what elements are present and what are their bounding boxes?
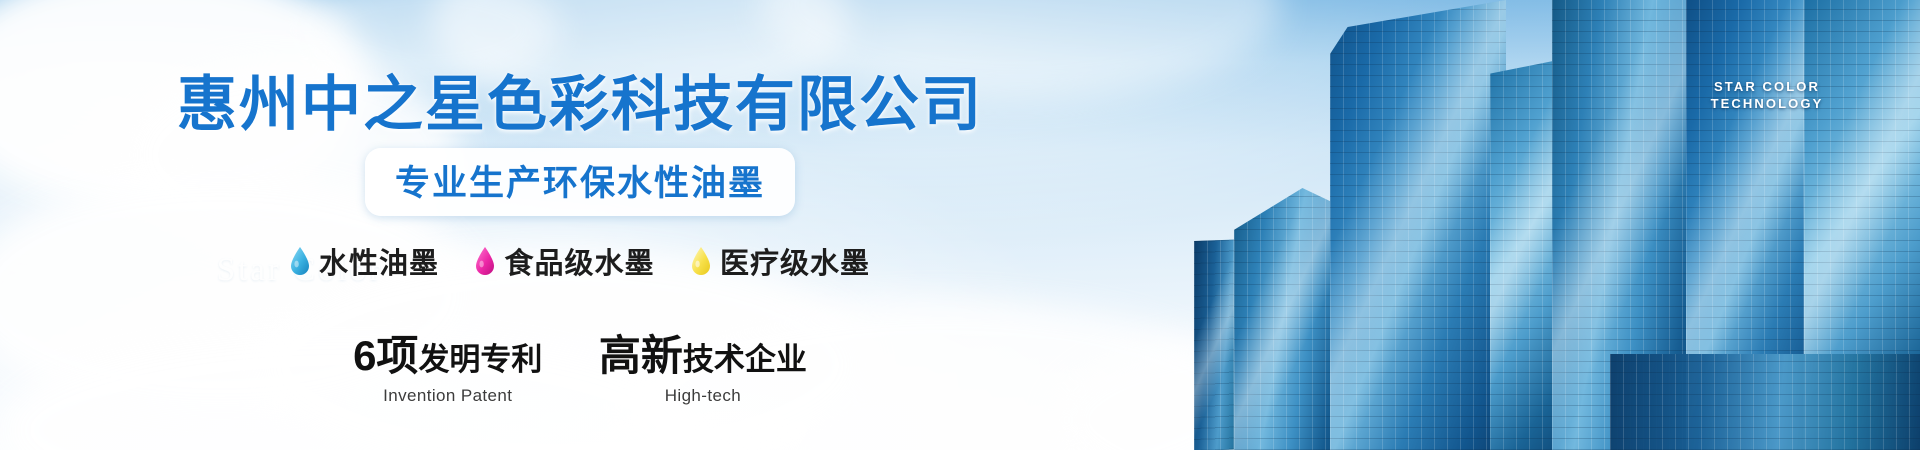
feature-label: 食品级水墨 [504, 240, 654, 282]
city-skyline-image: STAR COLOR TECHNOLOGY [1180, 0, 1920, 450]
credential-item: 高新技术企业 High-tech [599, 322, 807, 406]
feature-label: 水性油墨 [319, 240, 439, 282]
banner-content: 惠州中之星色彩科技有限公司 专业生产环保水性油墨 水性油墨 [0, 0, 1160, 450]
feature-item: 医疗级水墨 [691, 240, 870, 282]
company-title: 惠州中之星色彩科技有限公司 [0, 56, 1160, 143]
credential-cn-small: 发明专利 [418, 342, 542, 377]
ink-drop-icon [691, 247, 711, 275]
building [1330, 0, 1506, 450]
city-brand-line1: STAR COLOR [1692, 78, 1842, 95]
building-podium [1610, 354, 1920, 450]
feature-label: 医疗级水墨 [720, 240, 870, 282]
promo-banner: Star Color [0, 0, 1920, 450]
ink-drop-icon [475, 247, 495, 275]
credential-cn-small: 技术企业 [683, 342, 807, 377]
feature-item: 食品级水墨 [475, 240, 654, 282]
feature-list: 水性油墨 食品级水墨 [0, 240, 1160, 282]
credential-cn-big: 6项 [353, 332, 418, 379]
credential-en: High-tech [599, 386, 807, 406]
ink-drop-icon [290, 247, 310, 275]
credential-list: 6项发明专利 Invention Patent 高新技术企业 High-tech [0, 322, 1160, 406]
credential-item: 6项发明专利 Invention Patent [353, 322, 542, 406]
city-brand-label: STAR COLOR TECHNOLOGY [1692, 78, 1842, 112]
tagline-pill: 专业生产环保水性油墨 [365, 148, 795, 216]
city-brand-line2: TECHNOLOGY [1692, 95, 1842, 112]
tagline-wrap: 专业生产环保水性油墨 [0, 148, 1160, 216]
credential-cn-big: 高新 [599, 332, 683, 379]
credential-en: Invention Patent [353, 386, 542, 406]
feature-item: 水性油墨 [290, 240, 439, 282]
